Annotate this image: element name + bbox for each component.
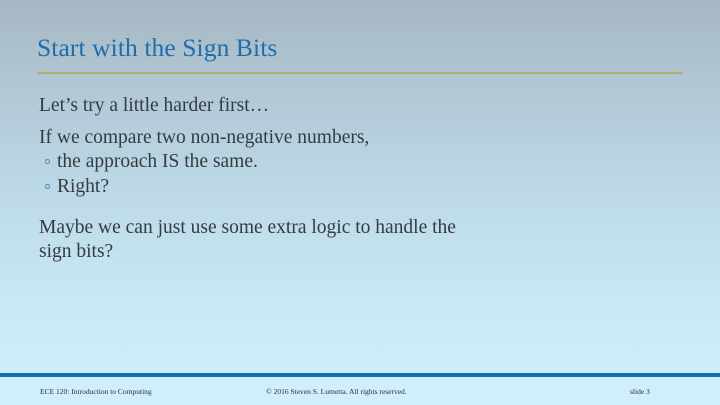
body-paragraph-3: Maybe we can just use some extra logic t… <box>39 216 469 264</box>
body-bullet-2: Right? <box>39 174 679 199</box>
footer-course-label: ECE 120: Introduction to Computing <box>40 387 152 396</box>
title-divider-rule <box>37 72 683 74</box>
body-paragraph-1: Let’s try a little harder first… <box>39 94 679 117</box>
footer-divider-bar <box>0 373 720 377</box>
footer-copyright-label: © 2016 Steven S. Lumetta. All rights res… <box>266 387 407 396</box>
body-bullet-2-label: Right? <box>57 176 109 197</box>
slide-canvas: Start with the Sign Bits Let’s try a lit… <box>0 0 720 405</box>
body-paragraph-2: If we compare two non-negative numbers, <box>39 126 679 149</box>
body-bullet-1: the approach IS the same. <box>39 149 679 174</box>
title-block: Start with the Sign Bits <box>37 33 683 63</box>
footer-slide-number: slide 3 <box>630 387 650 396</box>
hollow-circle-bullet-icon <box>45 159 50 164</box>
page-title: Start with the Sign Bits <box>37 33 683 63</box>
body-bullet-1-label: the approach IS the same. <box>57 151 258 172</box>
slide-body: Let’s try a little harder first… If we c… <box>39 94 679 273</box>
slide-footer: ECE 120: Introduction to Computing © 201… <box>0 385 720 405</box>
hollow-circle-bullet-icon <box>45 184 50 189</box>
